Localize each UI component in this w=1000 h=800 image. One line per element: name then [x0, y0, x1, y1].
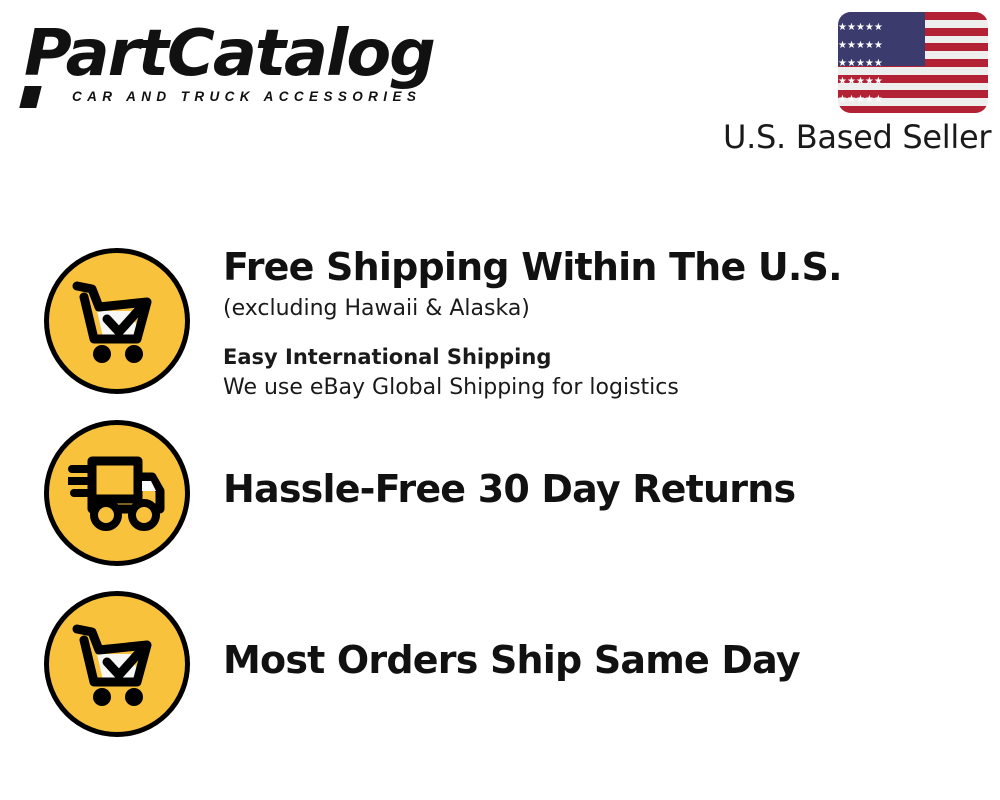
brand-wordmark: PartCatalog [24, 22, 503, 86]
brand-logo[interactable]: PartCatalog CAR AND TRUCK ACCESSORIES [24, 22, 494, 114]
shopping-cart-check-icon [44, 591, 190, 737]
benefit-text: Free Shipping Within The U.S. (excluding… [223, 248, 983, 403]
brand-tagline: CAR AND TRUCK ACCESSORIES [72, 89, 494, 104]
benefit-text: Hassle-Free 30 Day Returns [223, 466, 983, 512]
flag-stars: ★★★★★ ★★★★★ ★★★★★ ★★★★★ ★★★★★ [838, 17, 925, 61]
delivery-truck-icon [44, 420, 190, 566]
benefit-headline: Hassle-Free 30 Day Returns [223, 466, 983, 512]
benefit-subtext-bold: Easy International Shipping [223, 342, 983, 372]
shopping-cart-check-icon [44, 248, 190, 394]
us-flag-icon: ★★★★★ ★★★★★ ★★★★★ ★★★★★ ★★★★★ [838, 12, 988, 113]
benefit-subtext: We use eBay Global Shipping for logistic… [223, 373, 983, 403]
benefit-headline: Free Shipping Within The U.S. [223, 244, 983, 290]
benefit-subtext: (excluding Hawaii & Alaska) [223, 294, 983, 324]
benefit-text: Most Orders Ship Same Day [223, 637, 983, 683]
seller-label: U.S. Based Seller [723, 118, 988, 156]
benefit-headline: Most Orders Ship Same Day [223, 637, 983, 683]
